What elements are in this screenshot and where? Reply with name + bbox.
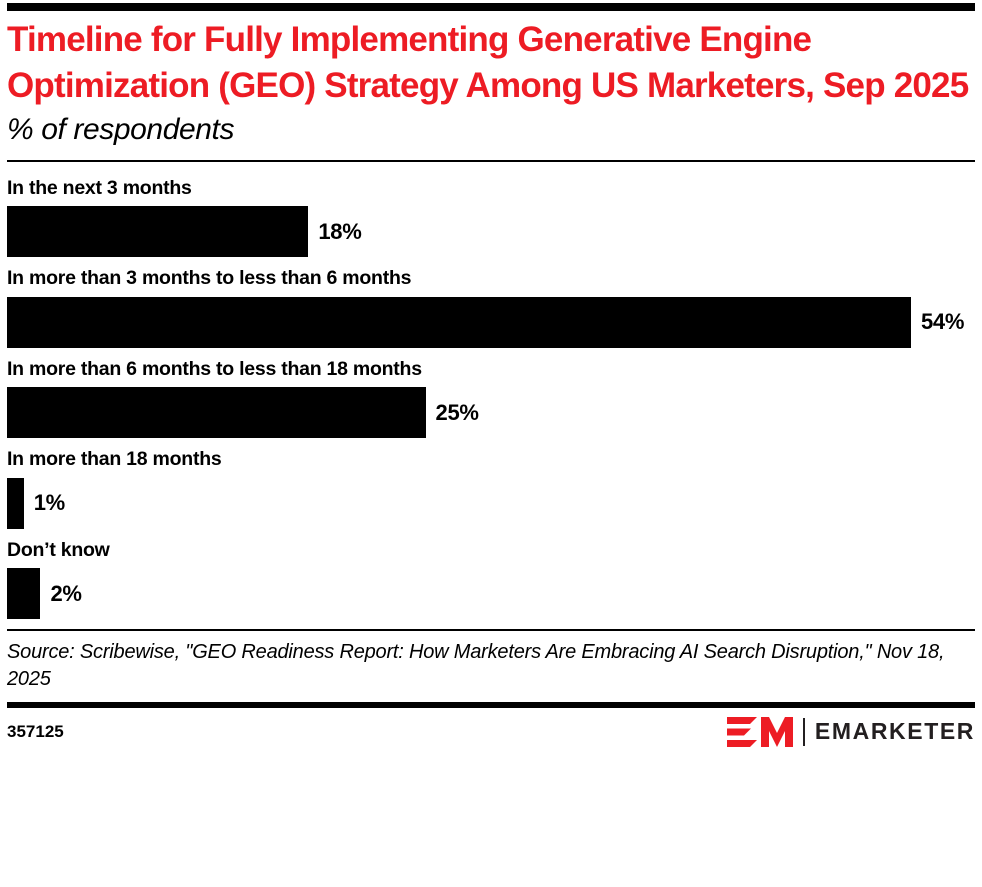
top-divider [7, 3, 975, 11]
bar-group: In the next 3 months 18% [7, 177, 975, 257]
bar-rect [7, 297, 911, 348]
source-divider [7, 629, 975, 631]
bar-category-label: In more than 3 months to less than 6 mon… [7, 267, 975, 289]
bar-value-label: 2% [50, 581, 81, 607]
brand-wordmark: EMARKETER [815, 718, 975, 745]
bar-value-label: 25% [436, 400, 479, 426]
bar-value-label: 18% [318, 219, 361, 245]
chart-container: Timeline for Fully Implementing Generati… [0, 3, 982, 887]
bar-group: In more than 3 months to less than 6 mon… [7, 267, 975, 347]
bar-rect [7, 206, 308, 257]
bar-row: 25% [7, 387, 975, 438]
bar-row: 1% [7, 478, 975, 529]
bar-value-label: 54% [921, 309, 964, 335]
bar-value-label: 1% [34, 490, 65, 516]
bar-chart-plot: In the next 3 months 18% In more than 3 … [7, 177, 975, 619]
footer-divider [7, 702, 975, 708]
bar-group: In more than 18 months 1% [7, 448, 975, 528]
footer: 357125 EMARKETER [7, 716, 975, 748]
bar-category-label: In more than 18 months [7, 448, 975, 470]
bar-row: 54% [7, 297, 975, 348]
bar-rect [7, 478, 24, 529]
bar-row: 2% [7, 568, 975, 619]
header: Timeline for Fully Implementing Generati… [7, 17, 975, 148]
bar-rect [7, 387, 426, 438]
bar-category-label: Don’t know [7, 539, 975, 561]
bar-category-label: In more than 6 months to less than 18 mo… [7, 358, 975, 380]
bar-category-label: In the next 3 months [7, 177, 975, 199]
bar-rect [7, 568, 40, 619]
bar-row: 18% [7, 206, 975, 257]
emarketer-logo: EMARKETER [727, 717, 975, 747]
bar-group: In more than 6 months to less than 18 mo… [7, 358, 975, 438]
chart-id: 357125 [7, 722, 64, 742]
em-monogram-icon [727, 717, 793, 747]
logo-divider [803, 718, 805, 746]
header-divider [7, 160, 975, 162]
chart-subtitle: % of respondents [7, 112, 975, 148]
source-note: Source: Scribewise, "GEO Readiness Repor… [7, 639, 967, 692]
page-title: Timeline for Fully Implementing Generati… [7, 17, 975, 108]
bar-group: Don’t know 2% [7, 539, 975, 619]
